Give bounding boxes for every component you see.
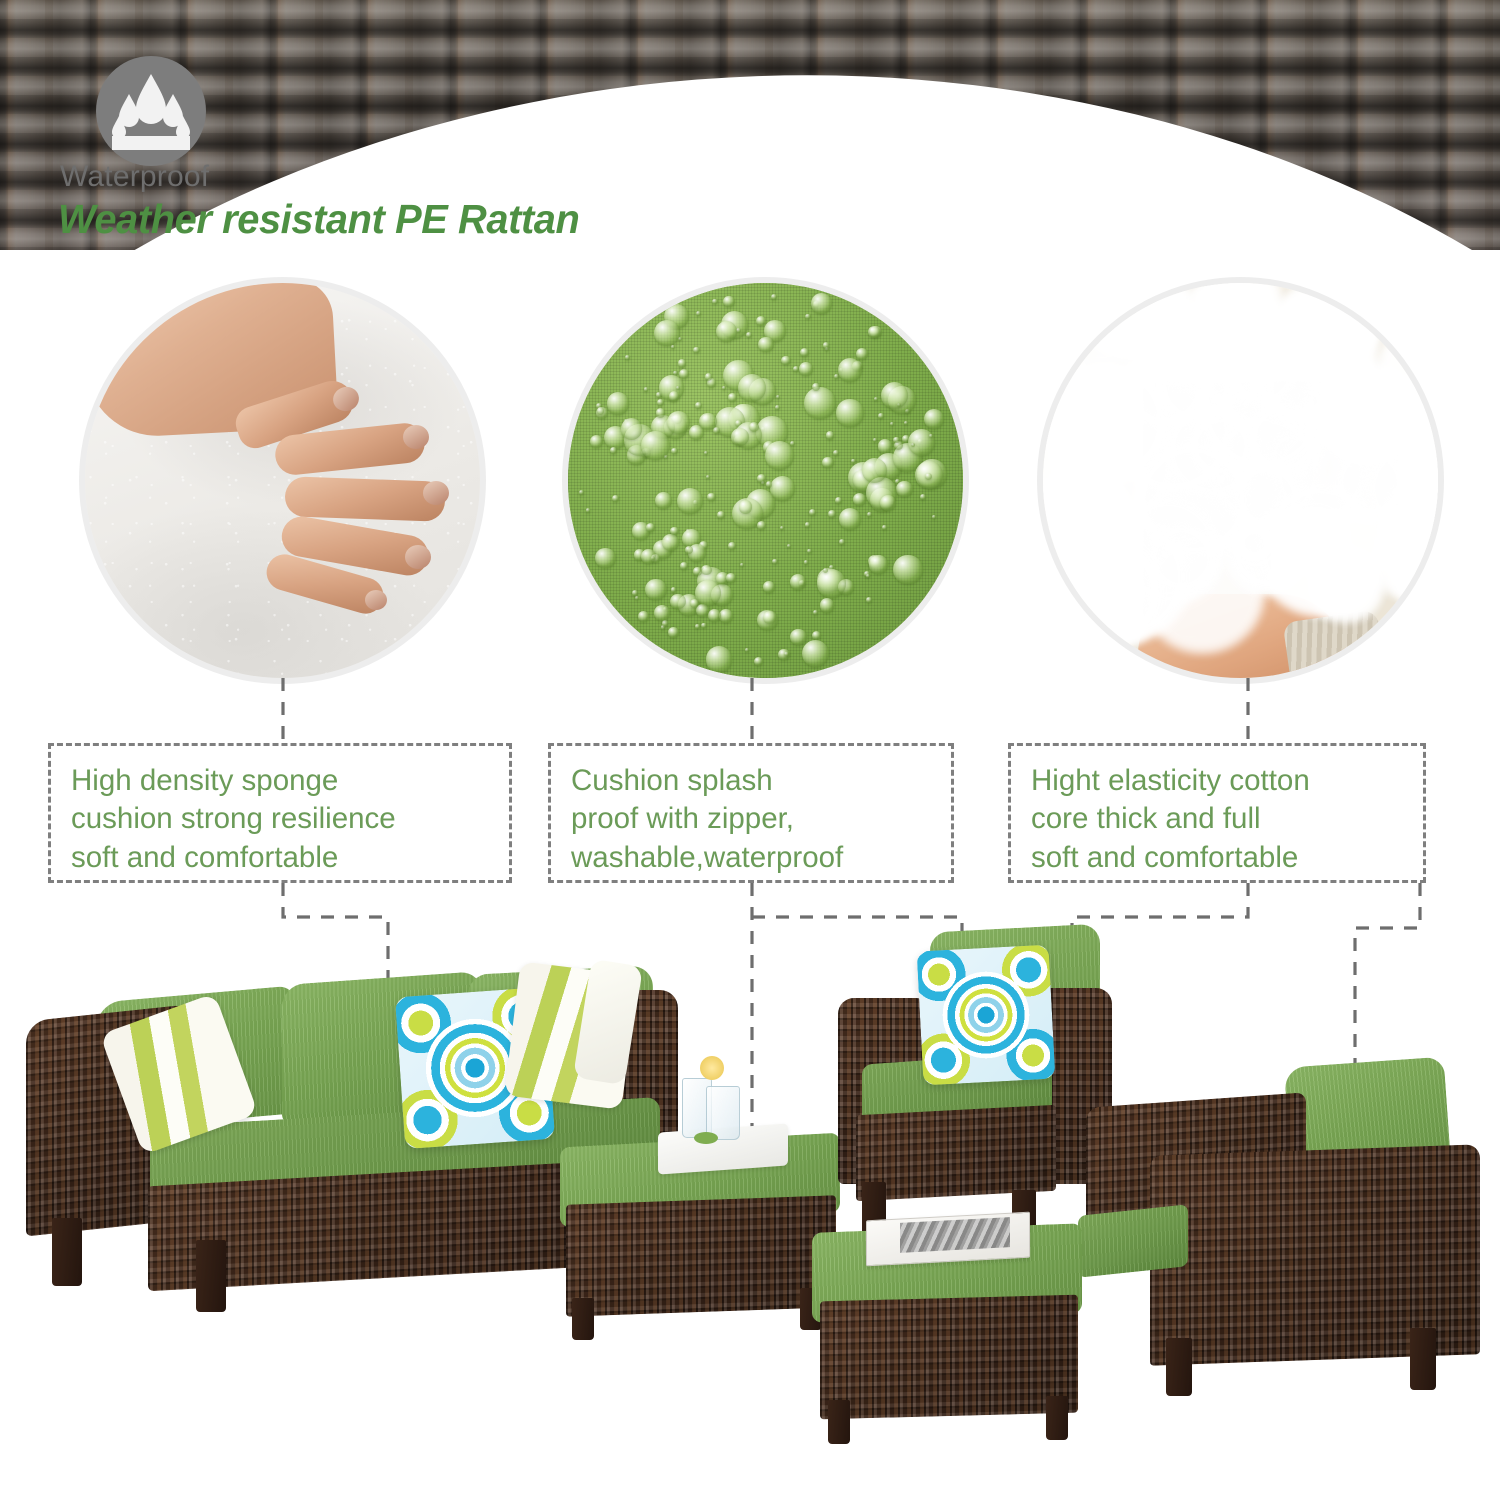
medallion-pillow — [917, 945, 1056, 1086]
infographic-page: Waterproof Weather resistant PE Rattan — [0, 0, 1500, 1500]
product-scene — [0, 900, 1500, 1500]
